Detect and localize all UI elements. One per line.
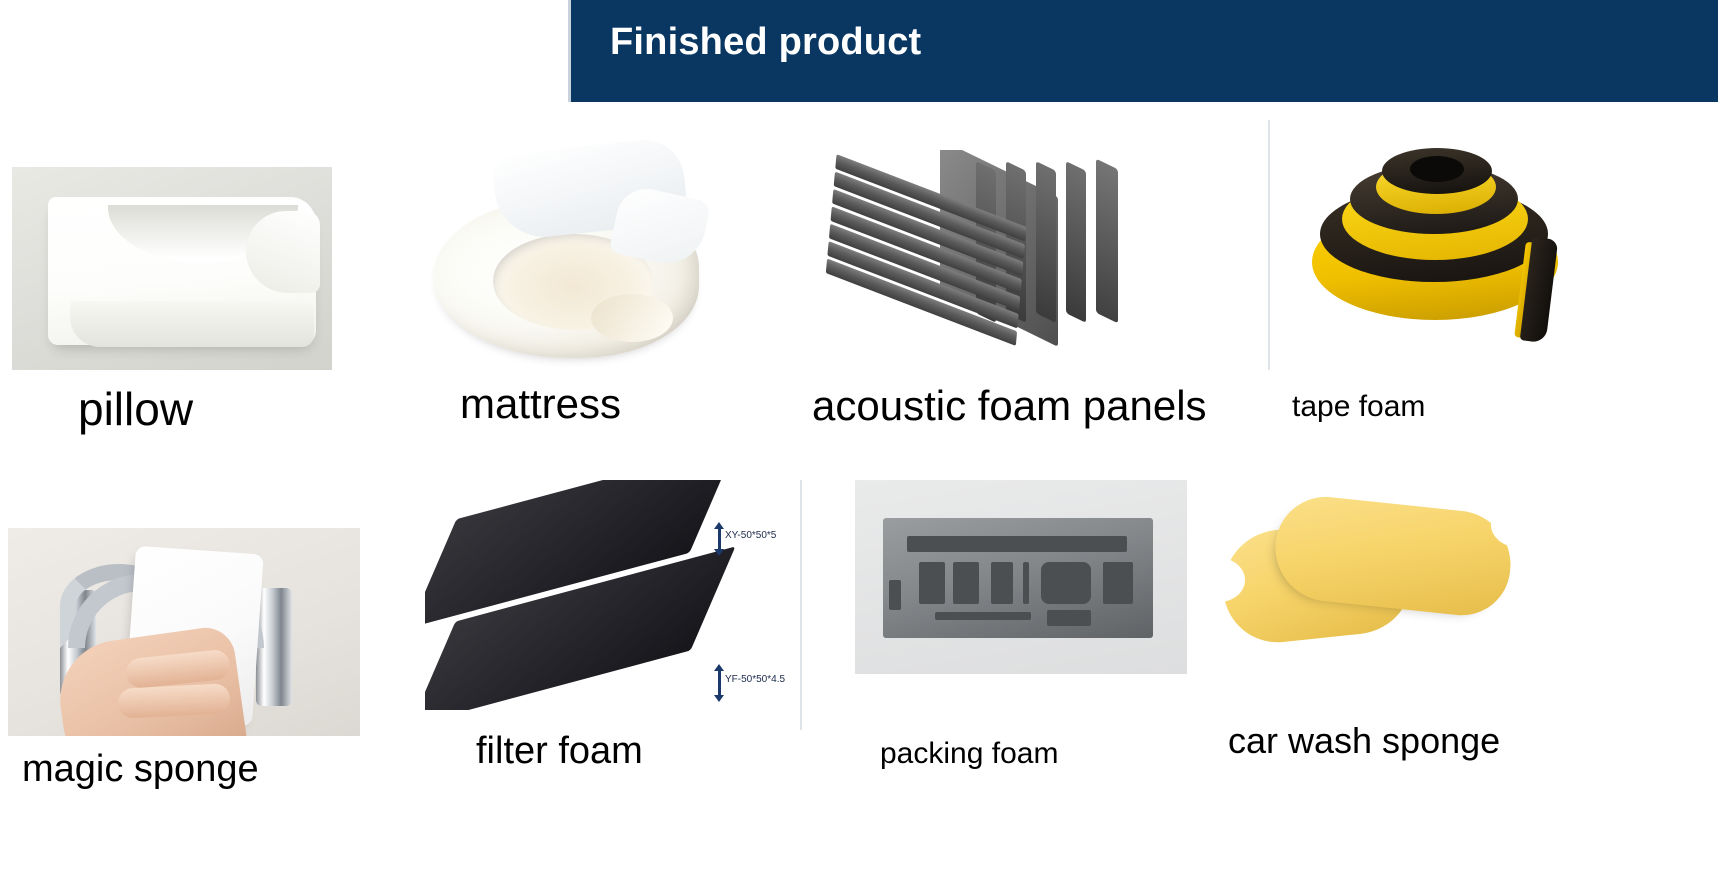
product-label-tape-foam: tape foam xyxy=(1292,390,1425,424)
tray-cavity xyxy=(919,562,945,604)
product-image-magic-sponge xyxy=(8,528,360,736)
tray-cavity xyxy=(1047,610,1091,626)
dimension-annotation-top: XY-50*50*5 xyxy=(725,530,776,541)
product-image-tape-foam xyxy=(1290,142,1590,357)
tray-cavity xyxy=(991,562,1013,604)
product-image-mattress xyxy=(425,140,745,375)
product-label-mattress: mattress xyxy=(460,380,621,428)
product-label-acoustic-foam-panels: acoustic foam panels xyxy=(812,382,1207,430)
acoustic-panel-rib xyxy=(1096,159,1118,324)
dimension-arrow xyxy=(718,528,721,550)
product-label-packing-foam: packing foam xyxy=(880,737,1058,771)
product-image-pillow xyxy=(12,167,332,370)
tray-cavity xyxy=(889,580,901,610)
tray-cavity xyxy=(907,536,1127,552)
slide-root: Finished product pillow mattress xyxy=(0,0,1718,892)
page-title: Finished product xyxy=(610,22,921,64)
dimension-arrow xyxy=(718,670,721,696)
pillow-contour-hump xyxy=(246,211,320,293)
product-image-packing-foam xyxy=(855,480,1187,674)
acoustic-panel-rib xyxy=(1066,161,1086,323)
acoustic-panel-rib xyxy=(1036,161,1056,323)
column-divider xyxy=(1268,120,1270,370)
mattress-roll-core xyxy=(591,294,673,342)
tray-cavity xyxy=(1023,562,1029,604)
tray-cavity xyxy=(1103,562,1133,604)
banner-left-edge xyxy=(568,0,571,102)
tray-cavity xyxy=(935,612,1031,620)
product-image-acoustic-foam-panels xyxy=(810,150,1170,365)
product-image-filter-foam: XY-50*50*5 YF-50*50*4.5 xyxy=(425,480,805,710)
product-label-car-wash-sponge: car wash sponge xyxy=(1228,720,1500,762)
pillow-body-shape xyxy=(48,197,316,345)
product-label-pillow: pillow xyxy=(78,382,193,436)
tape-coil-center-hole xyxy=(1410,156,1464,182)
dimension-annotation-bottom: YF-50*50*4.5 xyxy=(725,674,785,685)
tray-cavity xyxy=(1041,562,1091,604)
packing-foam-tray xyxy=(883,518,1153,638)
product-label-magic-sponge: magic sponge xyxy=(22,748,259,791)
product-image-car-wash-sponge xyxy=(1205,490,1535,670)
pillow-front-face xyxy=(70,301,314,347)
finger xyxy=(117,683,230,719)
product-label-filter-foam: filter foam xyxy=(476,730,643,773)
tray-cavity xyxy=(953,562,979,604)
column-divider xyxy=(800,480,802,730)
